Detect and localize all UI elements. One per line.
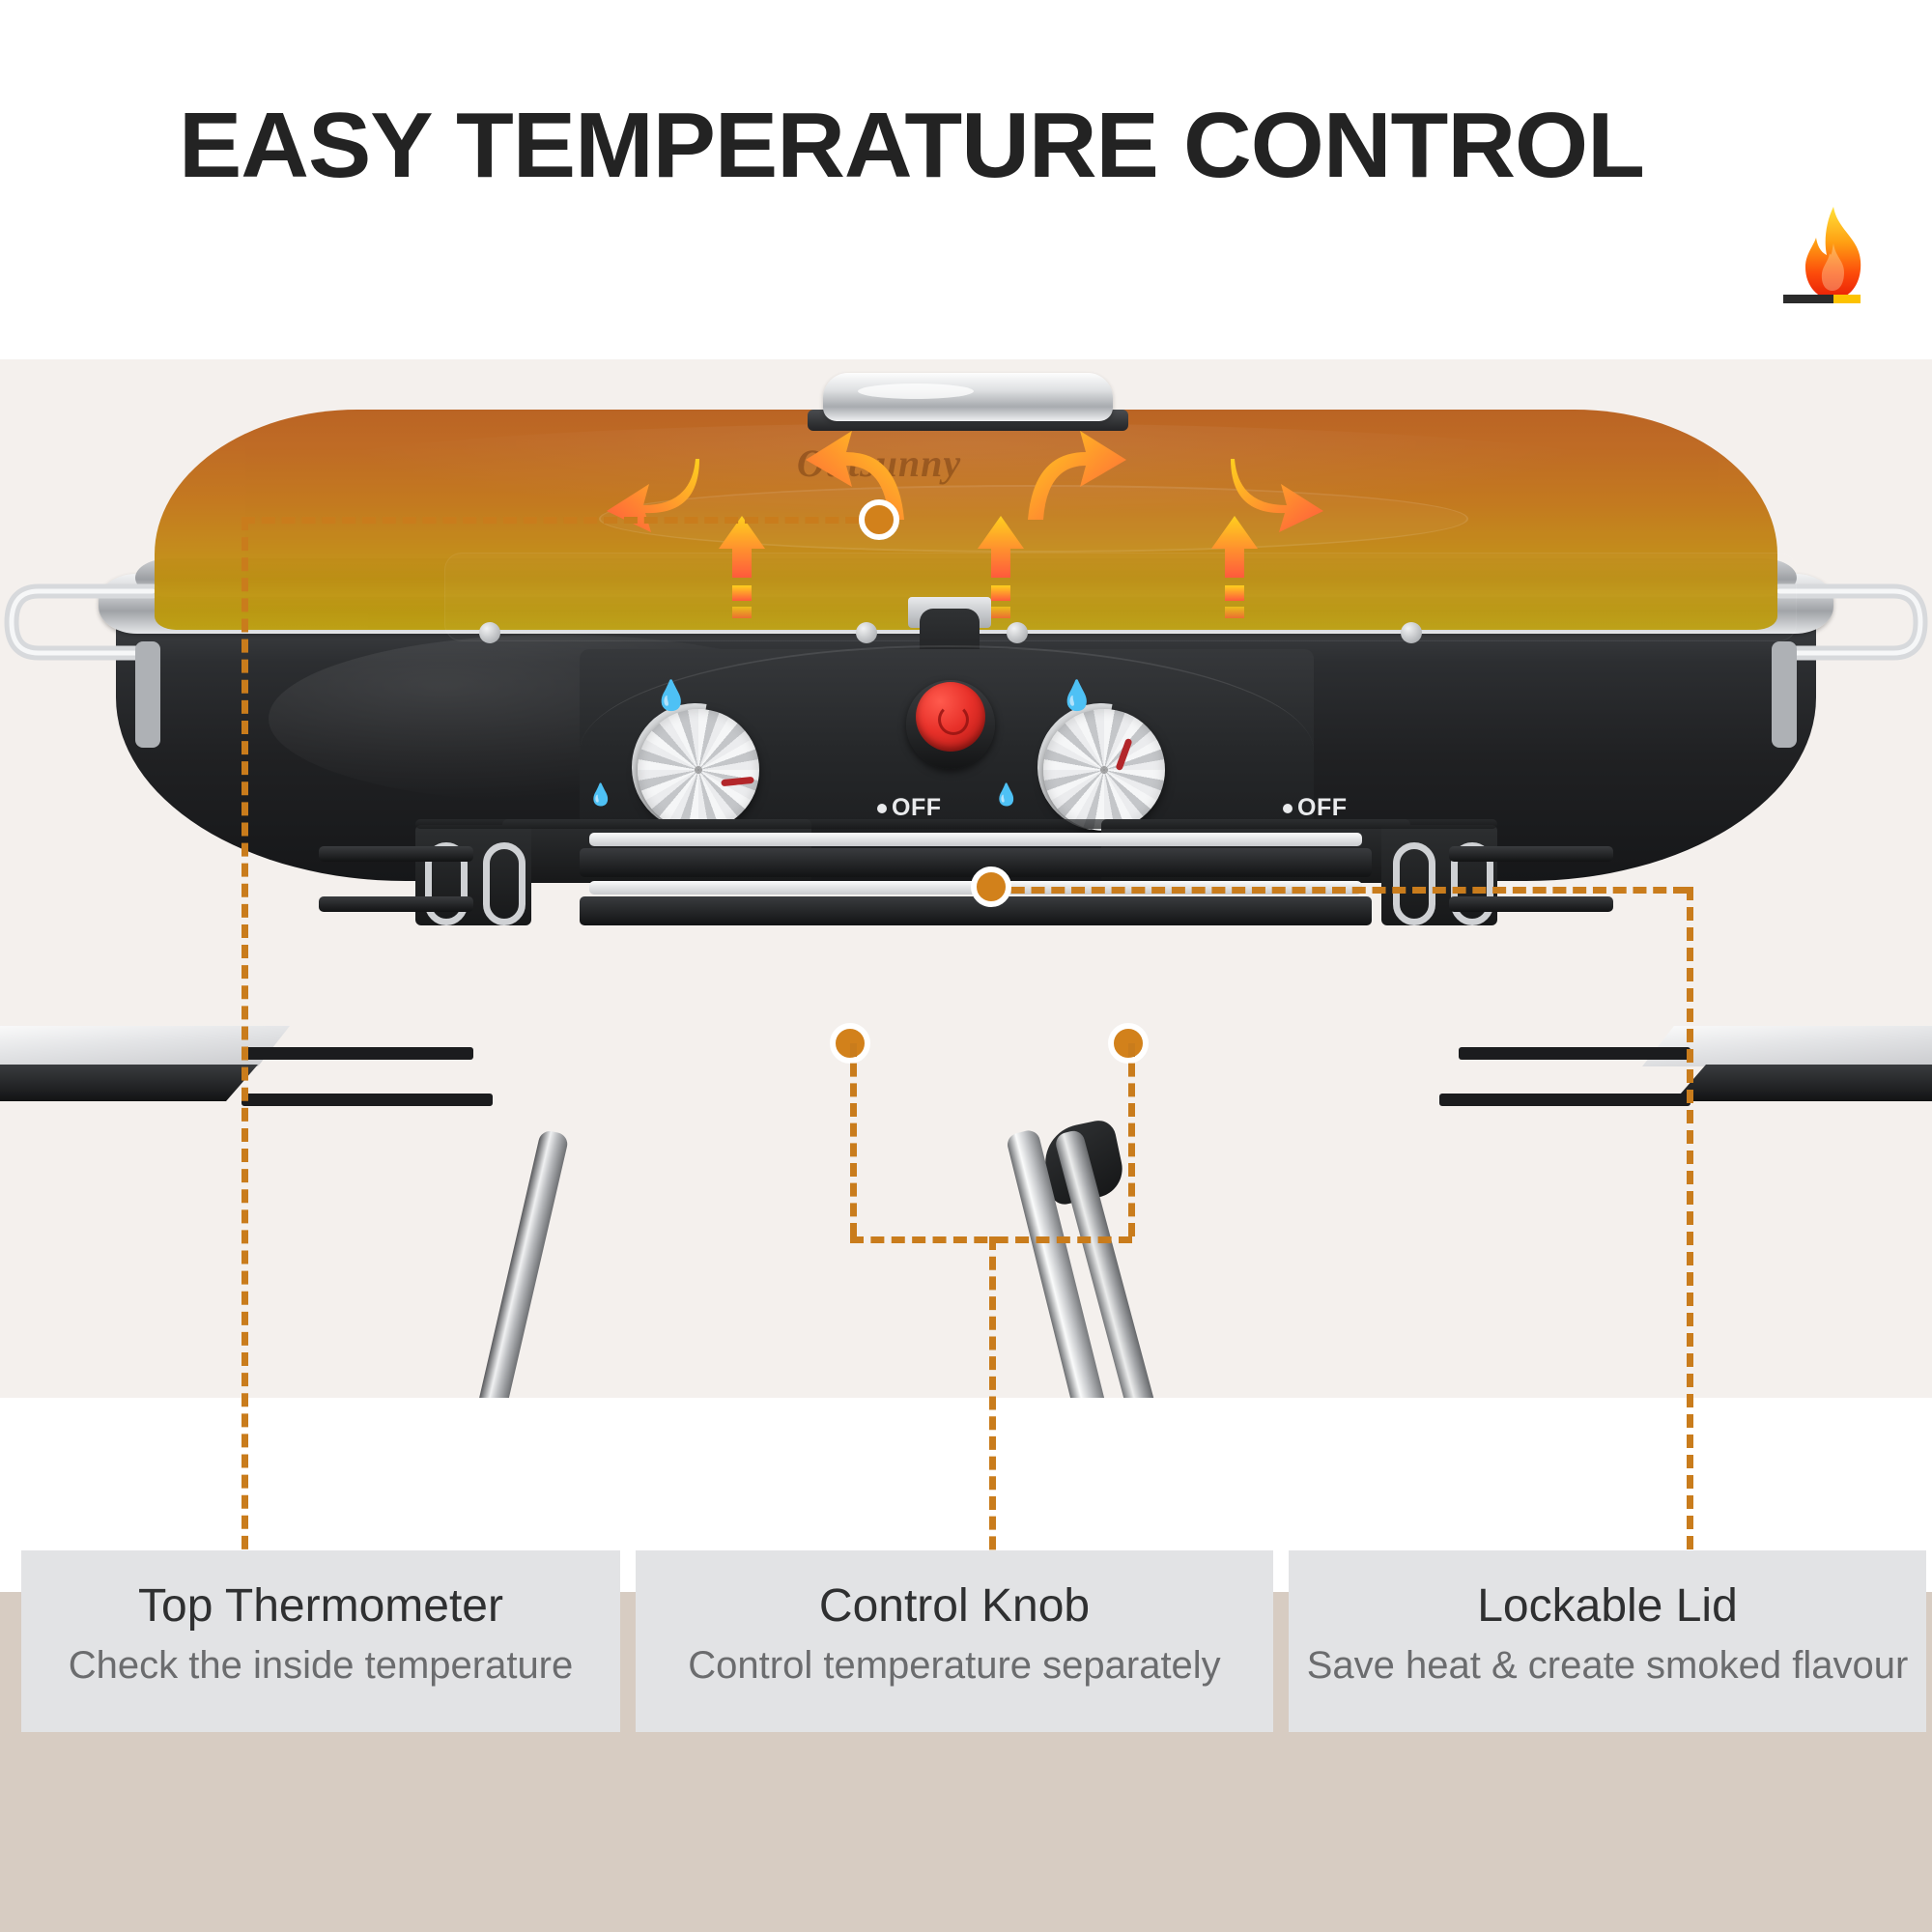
heat-arrow-curved-left-inner: [792, 427, 927, 533]
shelf-surface: [1642, 1026, 1932, 1066]
screw-icon: [479, 622, 500, 643]
badge-bar-dark: [1783, 295, 1833, 303]
knob-indicator: [1115, 738, 1132, 771]
control-knob-right[interactable]: [1043, 709, 1165, 831]
heat-arrow-up-right: [1206, 514, 1264, 620]
side-shelf-left: [0, 1026, 290, 1101]
infographic-page: EASY TEMPERATURE CONTROL: [0, 0, 1932, 1932]
frame-rail: [319, 896, 473, 912]
lid-panel-emboss: [444, 553, 1797, 641]
shelf-arm: [1459, 1047, 1690, 1060]
stand-leg-left: [474, 1129, 570, 1398]
side-shelf-right: [1642, 1026, 1932, 1101]
cross-rail: [415, 819, 1497, 829]
flame-icon: 💧: [653, 682, 689, 711]
feature-cards: Top Thermometer Check the inside tempera…: [0, 1550, 1932, 1744]
frame-rail: [319, 846, 473, 862]
burner-bar: [589, 881, 1362, 895]
shelf-arm: [241, 1094, 493, 1106]
flame-icon: 💧: [587, 784, 613, 806]
burner-bar: [580, 896, 1372, 925]
shelf-surface: [0, 1026, 290, 1066]
burner-bar: [580, 848, 1372, 877]
top-thermometer[interactable]: [823, 373, 1113, 421]
frame-rail: [1449, 846, 1613, 862]
page-title: EASY TEMPERATURE CONTROL: [179, 93, 1644, 199]
heat-arrow-up-center: [972, 514, 1030, 620]
feature-card-thermometer[interactable]: Top Thermometer Check the inside tempera…: [21, 1550, 620, 1732]
feature-title: Top Thermometer: [138, 1579, 503, 1633]
product-photo: Outsunny 💧 💧 OFF: [0, 359, 1932, 1398]
screw-icon: [1401, 622, 1422, 643]
screw-icon: [856, 622, 877, 643]
feature-subtitle: Save heat & create smoked flavour: [1307, 1644, 1909, 1688]
shelf-arm: [1439, 1094, 1690, 1106]
knob-indicator: [721, 777, 754, 787]
feature-title: Lockable Lid: [1477, 1579, 1738, 1633]
heat-arrow-up-left: [713, 514, 771, 620]
feature-title: Control Knob: [819, 1579, 1090, 1633]
control-knob-left[interactable]: [638, 709, 759, 831]
frame-rail: [1449, 896, 1613, 912]
burner-bar: [589, 833, 1362, 846]
igniter-button[interactable]: [916, 682, 985, 752]
feature-card-knob[interactable]: Control Knob Control temperature separat…: [636, 1550, 1273, 1732]
hinge-clip-left-2: [483, 842, 526, 925]
feature-subtitle: Control temperature separately: [688, 1644, 1220, 1688]
header: EASY TEMPERATURE CONTROL: [0, 0, 1932, 359]
feature-card-lid[interactable]: Lockable Lid Save heat & create smoked f…: [1289, 1550, 1926, 1732]
off-dot-icon: [877, 804, 887, 813]
off-label-right: OFF: [1283, 794, 1348, 822]
off-label-left: OFF: [877, 794, 942, 822]
flame-icon: 💧: [993, 784, 1019, 806]
shelf-arm: [241, 1047, 473, 1060]
hinge-clip-right: [1393, 842, 1435, 925]
badge-underline: [1783, 295, 1861, 303]
screw-icon: [1007, 622, 1028, 643]
flame-icon: 💧: [1059, 682, 1094, 711]
badge-bar-accent: [1833, 295, 1861, 303]
off-dot-icon: [1283, 804, 1293, 813]
feature-subtitle: Check the inside temperature: [69, 1644, 574, 1688]
bbq-grill: Outsunny 💧 💧 OFF: [0, 359, 1932, 1398]
heat-arrow-curved-left-outer: [599, 442, 715, 549]
